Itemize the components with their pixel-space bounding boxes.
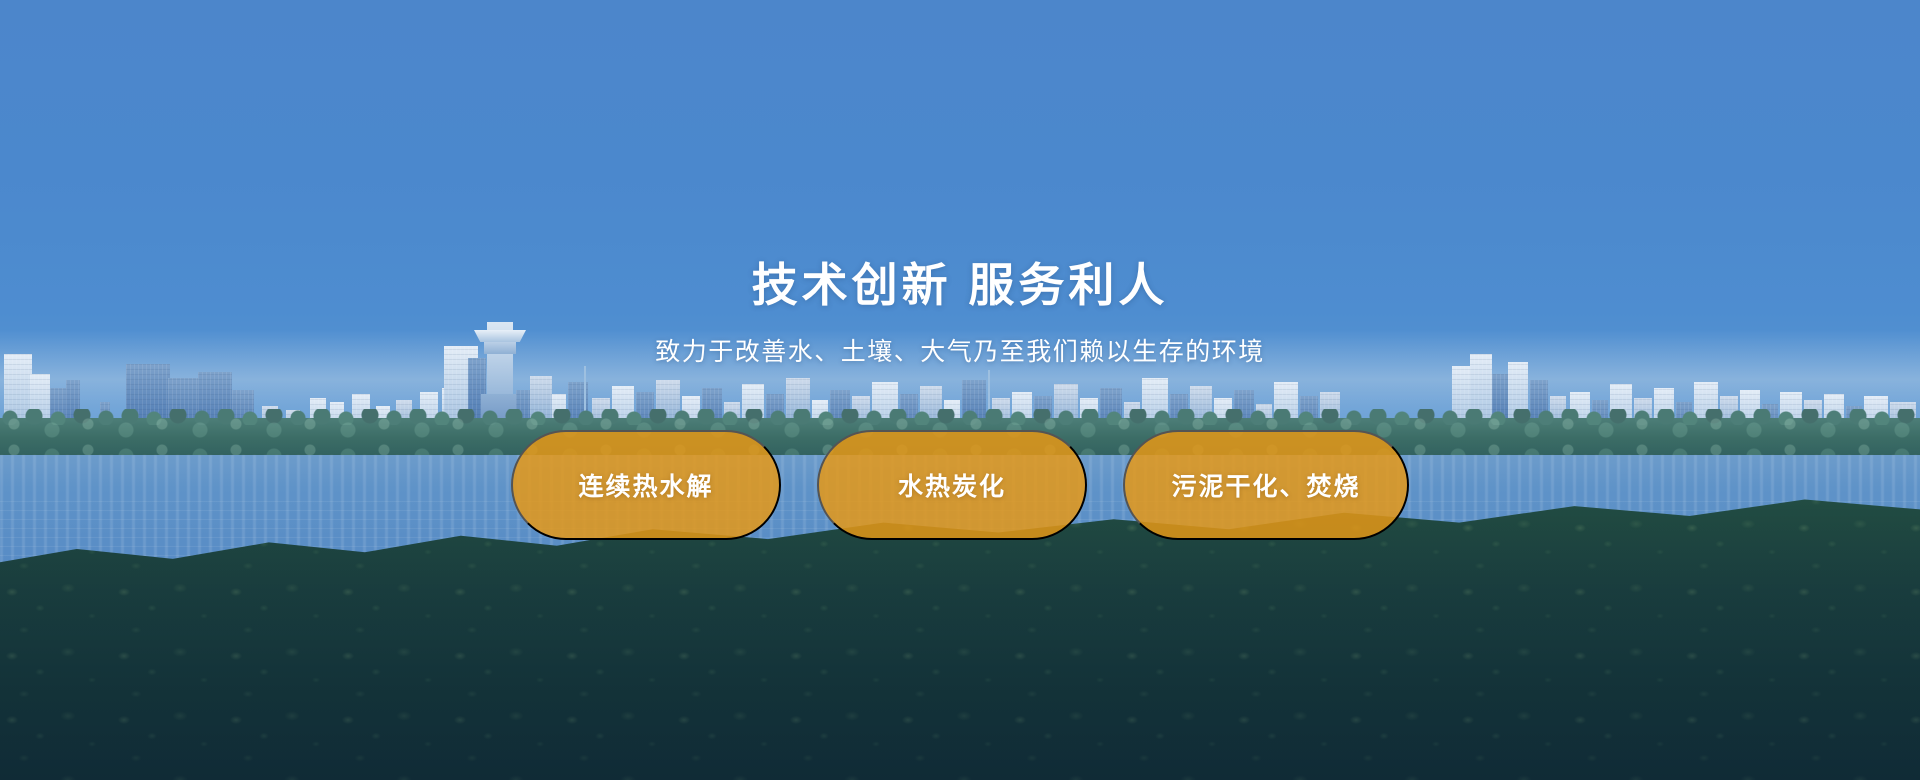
hero-banner: 技术创新 服务利人 致力于改善水、土壤、大气乃至我们赖以生存的环境 连续热水解 … [0, 0, 1920, 780]
hero-subtitle: 致力于改善水、土壤、大气乃至我们赖以生存的环境 [655, 332, 1265, 368]
hero-title: 技术创新 服务利人 [752, 262, 1169, 308]
hero-button-sludge-drying-incineration[interactable]: 污泥干化、焚烧 [1123, 430, 1409, 540]
hero-button-group: 连续热水解 水热炭化 污泥干化、焚烧 [511, 430, 1409, 540]
hero-button-continuous-thermal-hydrolysis[interactable]: 连续热水解 [511, 430, 781, 540]
hero-content: 技术创新 服务利人 致力于改善水、土壤、大气乃至我们赖以生存的环境 连续热水解 … [0, 0, 1920, 780]
hero-button-hydrothermal-carbonization[interactable]: 水热炭化 [817, 430, 1087, 540]
